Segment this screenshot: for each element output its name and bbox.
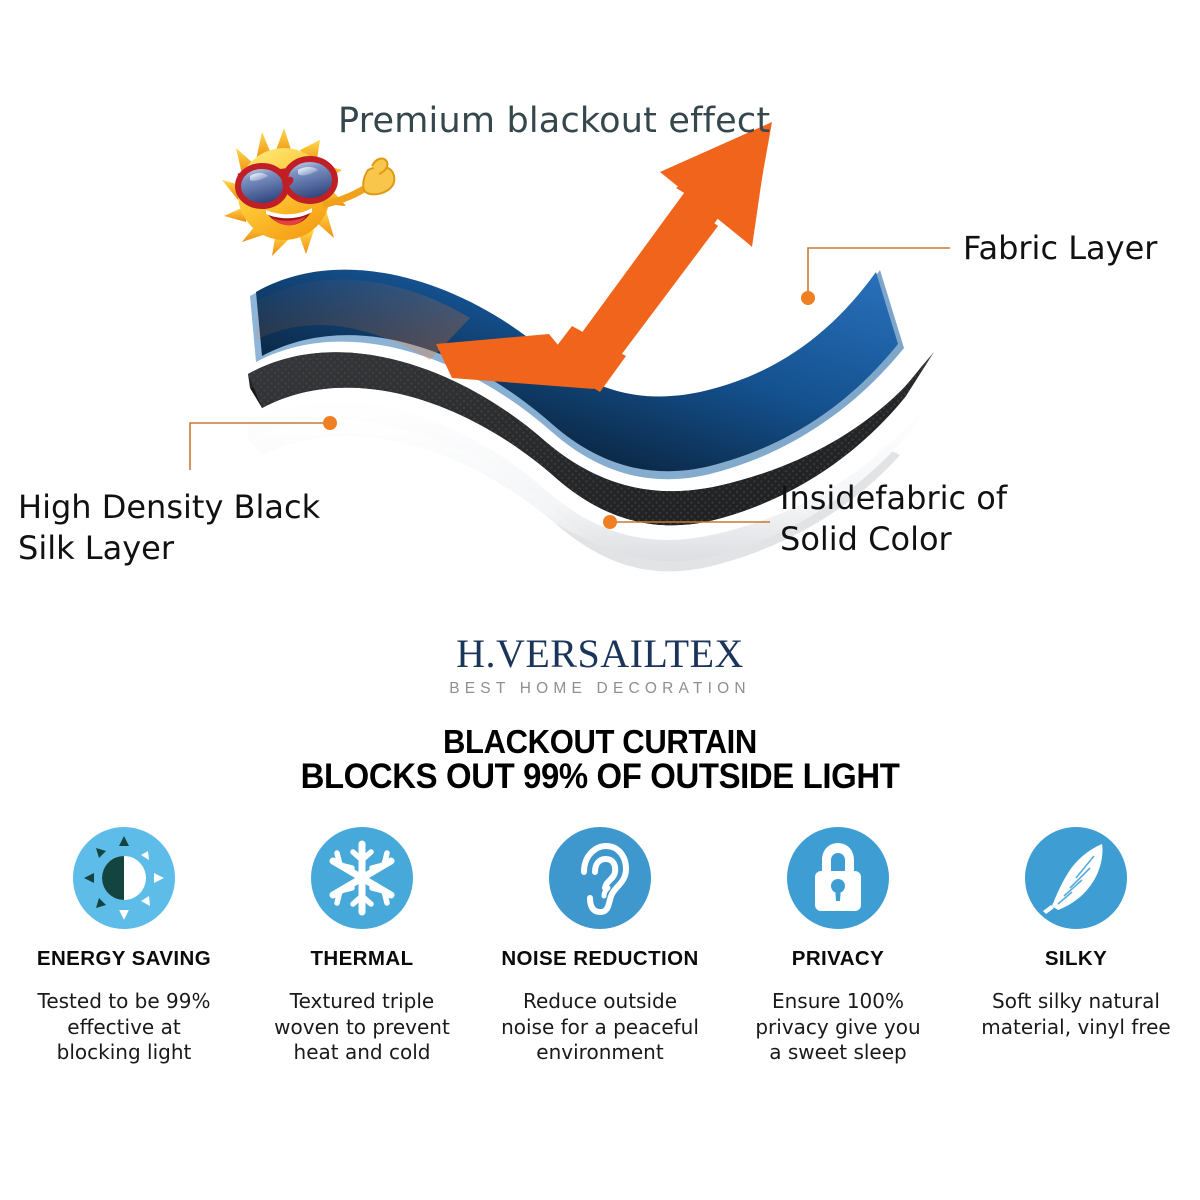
feature-description: Soft silky natural material, vinyl free [981, 989, 1170, 1040]
callout-dot-fabric [801, 291, 815, 305]
fabric-layers-illustration: Premium blackout effect Fabric Layer Ins… [0, 0, 1200, 600]
feature-title: NOISE REDUCTION [501, 947, 698, 971]
page-headline: BLACKOUT CURTAIN BLOCKS OUT 99% OF OUTSI… [0, 725, 1200, 796]
brand-name: H.VERSAILTEX [0, 634, 1200, 674]
callout-label-inside-fabric: Insidefabric of Solid Color [780, 478, 1007, 560]
feature-title: SILKY [1045, 947, 1107, 971]
feature-title: PRIVACY [792, 947, 884, 971]
feature-description: Ensure 100% privacy give you a sweet sle… [755, 989, 920, 1066]
premium-blackout-effect-title: Premium blackout effect [338, 101, 770, 141]
headline-line-1: BLACKOUT CURTAIN [36, 725, 1164, 759]
padlock-icon [786, 826, 890, 930]
feature-thermal: THERMAL Textured triple woven to prevent… [248, 826, 476, 1066]
ear-icon [548, 826, 652, 930]
feature-description: Tested to be 99% effective at blocking l… [38, 989, 211, 1066]
feature-title: ENERGY SAVING [37, 947, 211, 971]
feature-title: THERMAL [310, 947, 413, 971]
feature-list: ENERGY SAVING Tested to be 99% effective… [0, 826, 1200, 1126]
sun-moon-contrast-icon [72, 826, 176, 930]
headline-line-2: BLOCKS OUT 99% OF OUTSIDE LIGHT [36, 759, 1164, 795]
blackout-reflection-arrow [432, 122, 772, 392]
sun-with-sunglasses-icon [222, 128, 394, 256]
feather-icon [1024, 826, 1128, 930]
feature-privacy: PRIVACY Ensure 100% privacy give you a s… [724, 826, 952, 1066]
brand-logo: H.VERSAILTEX BEST HOME DECORATION [0, 634, 1200, 697]
callout-label-fabric-layer: Fabric Layer [963, 228, 1157, 269]
feature-silky: SILKY Soft silky natural material, vinyl… [962, 826, 1190, 1040]
feature-description: Reduce outside noise for a peaceful envi… [501, 989, 699, 1066]
snowflake-icon [310, 826, 414, 930]
callout-label-high-density-black-silk: High Density Black Silk Layer [18, 487, 320, 569]
feature-energy-saving: ENERGY SAVING Tested to be 99% effective… [10, 826, 238, 1066]
feature-description: Textured triple woven to prevent heat an… [274, 989, 450, 1066]
callout-dot-high-density [323, 416, 337, 430]
feature-noise-reduction: NOISE REDUCTION Reduce outside noise for… [486, 826, 714, 1066]
brand-tagline: BEST HOME DECORATION [0, 681, 1200, 697]
callout-dot-inside [603, 515, 617, 529]
